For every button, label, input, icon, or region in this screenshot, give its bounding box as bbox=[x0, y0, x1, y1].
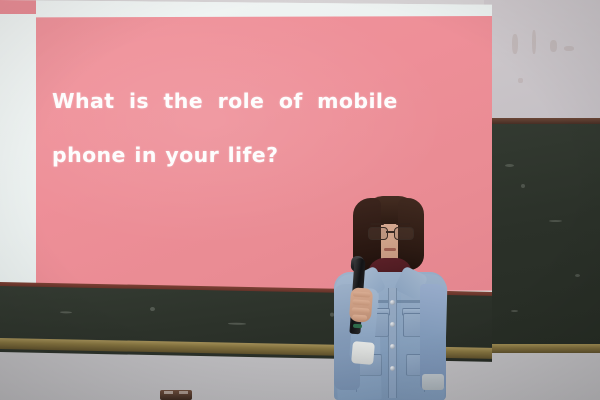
presenter bbox=[316, 196, 462, 400]
eyebrow-left bbox=[370, 223, 384, 225]
chalkboard-right bbox=[487, 124, 600, 348]
hand-holding-microphone bbox=[349, 287, 373, 322]
jacket-button bbox=[390, 322, 395, 327]
jacket-button bbox=[390, 366, 395, 371]
floor-object bbox=[160, 390, 192, 400]
slide-text-line-2: phone in your life? bbox=[52, 128, 432, 182]
jacket-cuff-right bbox=[422, 374, 444, 390]
glasses-lens-right bbox=[394, 227, 414, 240]
whiteboard bbox=[484, 0, 600, 124]
classroom-presentation-photo: What is the role of mobile phone in your… bbox=[0, 0, 600, 400]
jacket-button bbox=[390, 300, 395, 305]
chalkboard-right-tray bbox=[487, 344, 600, 353]
glasses-icon bbox=[368, 227, 414, 239]
glasses-lens-left bbox=[368, 227, 388, 240]
eyebrow-right bbox=[396, 223, 410, 225]
slide-text: What is the role of mobile phone in your… bbox=[52, 74, 432, 182]
jacket-button bbox=[390, 344, 395, 349]
slide-text-line-1: What is the role of mobile bbox=[52, 74, 432, 128]
inner-sleeve-cuff bbox=[351, 341, 375, 365]
mouth bbox=[384, 248, 396, 251]
glasses-bridge bbox=[386, 231, 394, 233]
microphone-indicator bbox=[353, 324, 362, 329]
slide-corner-accent bbox=[0, 0, 36, 14]
